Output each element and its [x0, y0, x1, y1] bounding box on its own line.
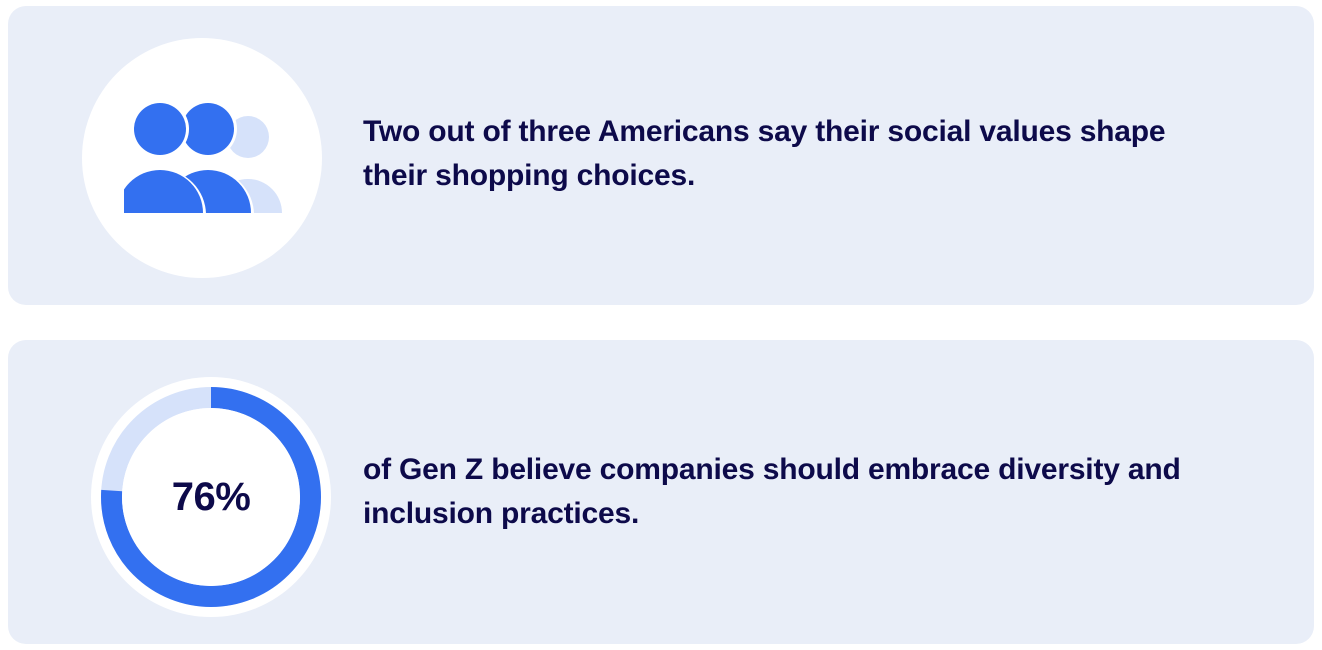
- stat-card-gen-z-diversity: 76% of Gen Z believe companies should em…: [8, 340, 1314, 644]
- three-people-icon: [124, 103, 284, 213]
- stat-card-two-out-of-three: Two out of three Americans say their soc…: [8, 6, 1314, 305]
- infographic-root: Two out of three Americans say their soc…: [0, 0, 1322, 650]
- card-visual-donut: 76%: [8, 340, 363, 644]
- donut-progress-icon: [88, 374, 334, 620]
- stat-text-two-out-of-three: Two out of three Americans say their soc…: [363, 110, 1253, 198]
- card-visual-people: [8, 6, 363, 305]
- donut-chart: 76%: [88, 374, 334, 620]
- stat-text-gen-z-diversity: of Gen Z believe companies should embrac…: [363, 448, 1253, 536]
